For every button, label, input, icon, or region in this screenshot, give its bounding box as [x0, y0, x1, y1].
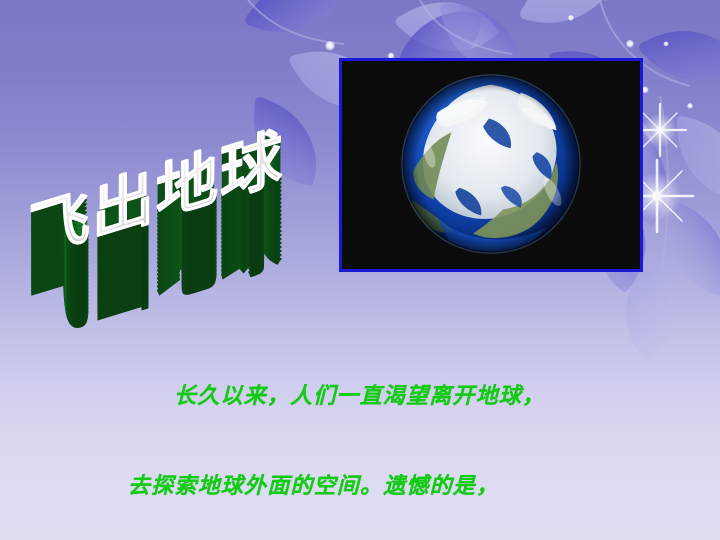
body-line-1: 长久以来，人们一直渴望离开地球，	[128, 382, 598, 412]
globe-surface	[402, 75, 580, 253]
wordart-title: 飞 出 地 球	[18, 112, 286, 280]
body-line-2: 去探索地球外面的空间。遗憾的是，	[128, 472, 598, 502]
body-paragraph: 长久以来，人们一直渴望离开地球， 去探索地球外面的空间。遗憾的是， 由于无法克服…	[128, 322, 598, 540]
earth-photo	[339, 58, 643, 272]
presentation-slide: 飞 出 地 球	[0, 0, 720, 540]
